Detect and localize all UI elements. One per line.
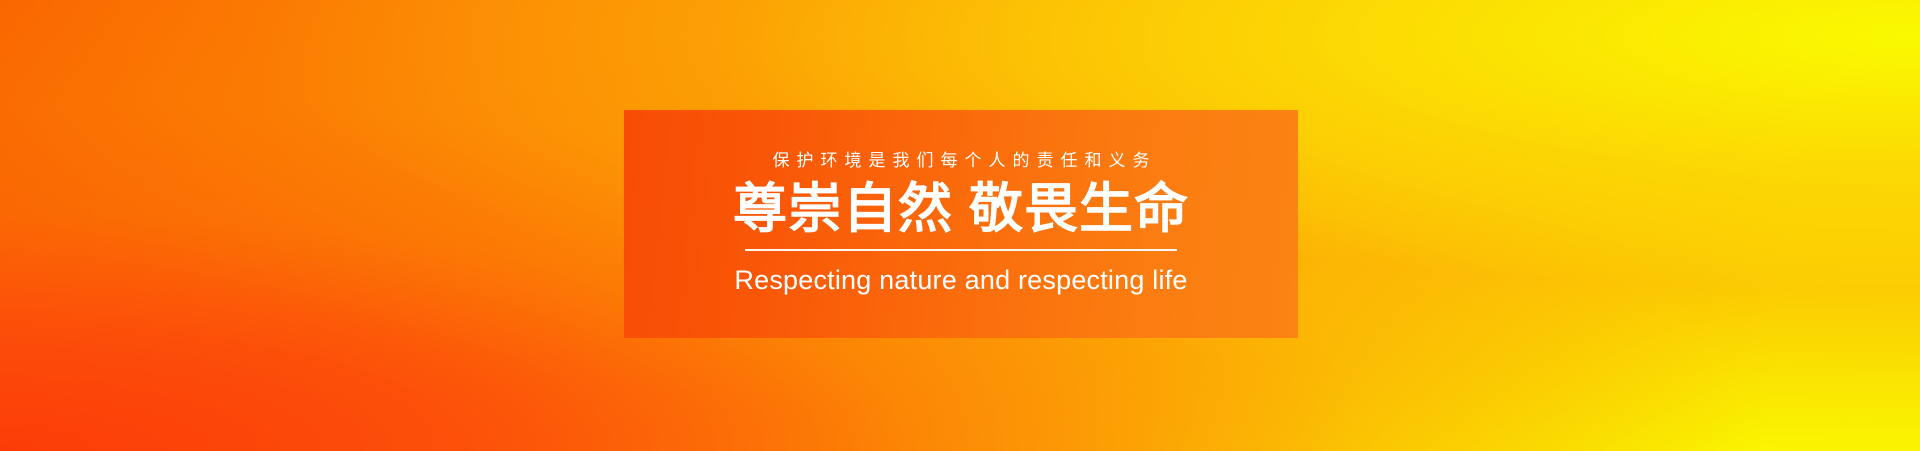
slogan-divider-rule (745, 249, 1177, 251)
slogan-tagline-english: Respecting nature and respecting life (734, 265, 1187, 295)
slogan-card-content: 保护环境是我们每个人的责任和义务 尊崇自然 敬畏生命 Respecting na… (624, 152, 1298, 295)
slogan-card: 保护环境是我们每个人的责任和义务 尊崇自然 敬畏生命 Respecting na… (624, 110, 1298, 338)
slogan-headline: 尊崇自然 敬畏生命 (733, 180, 1189, 238)
environment-slogan-banner: 保护环境是我们每个人的责任和义务 尊崇自然 敬畏生命 Respecting na… (0, 0, 1920, 451)
slogan-subtitle: 保护环境是我们每个人的责任和义务 (766, 152, 1157, 171)
